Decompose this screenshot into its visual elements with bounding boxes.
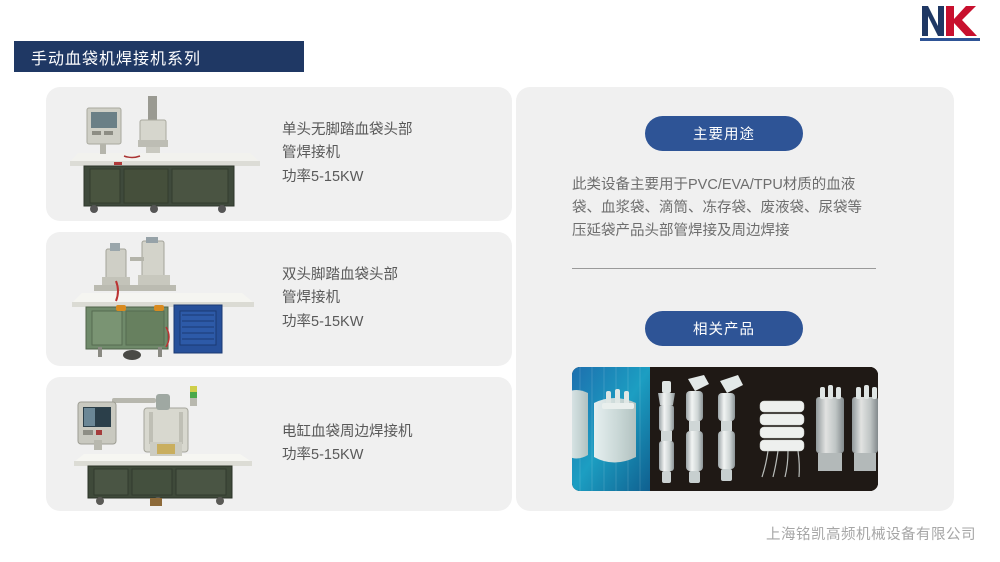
footer-company: 上海铭凯高频机械设备有限公司 <box>766 523 976 544</box>
product-card[interactable]: 单头无脚踏血袋头部 管焊接机 功率5-15KW <box>46 87 512 221</box>
product-image-3 <box>54 380 274 508</box>
logo-underline <box>920 38 980 41</box>
product-line: 双头脚踏血袋头部 <box>282 264 512 287</box>
product-card[interactable]: 电缸血袋周边焊接机 功率5-15KW <box>46 377 512 511</box>
page-title: 手动血袋机焊接机系列 <box>14 45 201 69</box>
product-line: 功率5-15KW <box>282 311 512 334</box>
product-image-2 <box>54 235 274 363</box>
slide-root: 手动血袋机焊接机系列 <box>0 0 1000 562</box>
related-products-image <box>572 367 878 491</box>
product-card[interactable]: 双头脚踏血袋头部 管焊接机 功率5-15KW <box>46 232 512 366</box>
related-products-label: 相关产品 <box>693 318 755 339</box>
product-line: 电缸血袋周边焊接机 <box>282 421 512 444</box>
logo-letter-m <box>922 6 944 36</box>
product-image-1 <box>54 90 274 218</box>
product-text-3: 电缸血袋周边焊接机 功率5-15KW <box>274 421 512 468</box>
single-head-no-pedal-blood-bag-tube-welder-photo <box>54 90 274 218</box>
info-panel: 主要用途 此类设备主要用于PVC/EVA/TPU材质的血液 袋、血浆袋、滴筒、冻… <box>516 87 954 511</box>
main-use-pill[interactable]: 主要用途 <box>645 116 803 151</box>
product-line: 单头无脚踏血袋头部 <box>282 119 512 142</box>
mk-logo <box>918 2 984 42</box>
product-card-list: 单头无脚踏血袋头部 管焊接机 功率5-15KW <box>46 87 512 511</box>
description-line: 此类设备主要用于PVC/EVA/TPU材质的血液 <box>572 174 902 197</box>
product-line: 管焊接机 <box>282 142 512 165</box>
double-head-pedal-blood-bag-tube-welder-photo <box>54 235 274 363</box>
product-text-1: 单头无脚踏血袋头部 管焊接机 功率5-15KW <box>274 119 512 189</box>
description-line: 袋、血浆袋、滴筒、冻存袋、废液袋、尿袋等 <box>572 197 902 220</box>
page-title-bar: 手动血袋机焊接机系列 <box>14 41 304 72</box>
product-line: 功率5-15KW <box>282 444 512 467</box>
product-line: 功率5-15KW <box>282 166 512 189</box>
main-use-label: 主要用途 <box>693 123 755 144</box>
description-line: 压延袋产品头部管焊接及周边焊接 <box>572 220 902 243</box>
electric-cylinder-blood-bag-perimeter-welder-photo <box>54 380 274 508</box>
related-products-pill[interactable]: 相关产品 <box>645 311 803 346</box>
main-use-description: 此类设备主要用于PVC/EVA/TPU材质的血液 袋、血浆袋、滴筒、冻存袋、废液… <box>572 174 902 244</box>
product-text-2: 双头脚踏血袋头部 管焊接机 功率5-15KW <box>274 264 512 334</box>
blood-bag-products-photo <box>572 367 878 491</box>
section-divider <box>572 268 876 269</box>
logo-letter-k <box>946 6 977 36</box>
product-line: 管焊接机 <box>282 287 512 310</box>
